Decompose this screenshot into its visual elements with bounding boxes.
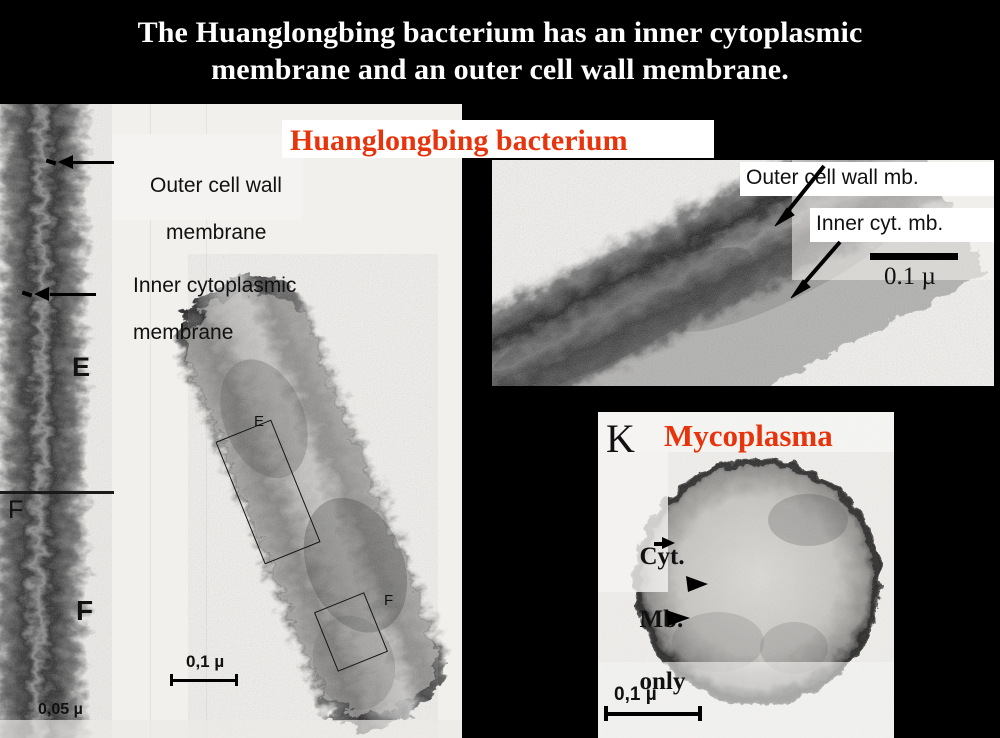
mycoplasma-scale-tick-start <box>604 706 608 721</box>
region-box-f-label: F <box>384 593 393 610</box>
inset-letter-f: F <box>76 595 93 627</box>
left-panel-scale-main-label: 0,1 µ <box>186 652 224 671</box>
mycoplasma-panel: K Mycoplasma Cyt. Mb. only 0,1 µ <box>598 412 894 738</box>
mycoplasma-scale-tick-end <box>698 706 702 721</box>
label-inner-cytoplasmic-membrane: Inner cytoplasmic membrane <box>98 250 296 369</box>
inner-membrane-arrow-shaft <box>50 293 96 296</box>
title-line-1: The Huanglongbing bacterium has an inner… <box>0 14 1000 51</box>
label-outer-line-2: membrane <box>166 221 266 245</box>
title-line-2: membrane and an outer cell wall membrane… <box>0 51 1000 88</box>
outer-membrane-arrow-head <box>58 155 73 169</box>
top-right-micrograph-panel: Outer cell wall mb. Inner cyt. mb. 0.1 µ <box>492 160 994 386</box>
label-inner-line-1: Inner cytoplasmic <box>133 274 296 297</box>
slide-canvas: The Huanglongbing bacterium has an inner… <box>0 0 1000 738</box>
top-right-scale-bar <box>870 253 958 260</box>
huanglongbing-heading: Huanglongbing bacterium <box>290 124 628 158</box>
left-panel-scale-main-bar <box>170 679 238 682</box>
membrane-arrowhead-2 <box>666 610 690 626</box>
inner-membrane-arrow-head <box>34 287 49 301</box>
left-panel-scale-main-tick-start <box>170 674 173 686</box>
left-panel-scale-inset-label: 0,05 µ <box>38 701 83 719</box>
label-inner-line-2: membrane <box>133 321 233 344</box>
page-title: The Huanglongbing bacterium has an inner… <box>0 0 1000 104</box>
mycoplasma-scale-label: 0,1 µ <box>614 684 657 705</box>
left-micrograph-panel: Outer cell wall membrane Inner cytoplasm… <box>0 104 462 738</box>
top-right-scale-label: 0.1 µ <box>884 263 936 291</box>
left-panel-scale-main-tick-end <box>235 674 238 686</box>
inset-letter-e: E <box>72 352 90 383</box>
inset-letter-f-small: F <box>8 496 23 524</box>
membrane-arrowhead-1 <box>686 576 708 592</box>
mycoplasma-scale-bar <box>604 712 702 716</box>
region-box-e-label: E <box>254 414 264 431</box>
label-outer-line-1: Outer cell wall <box>150 174 282 197</box>
outer-membrane-arrow-shaft <box>72 161 114 164</box>
